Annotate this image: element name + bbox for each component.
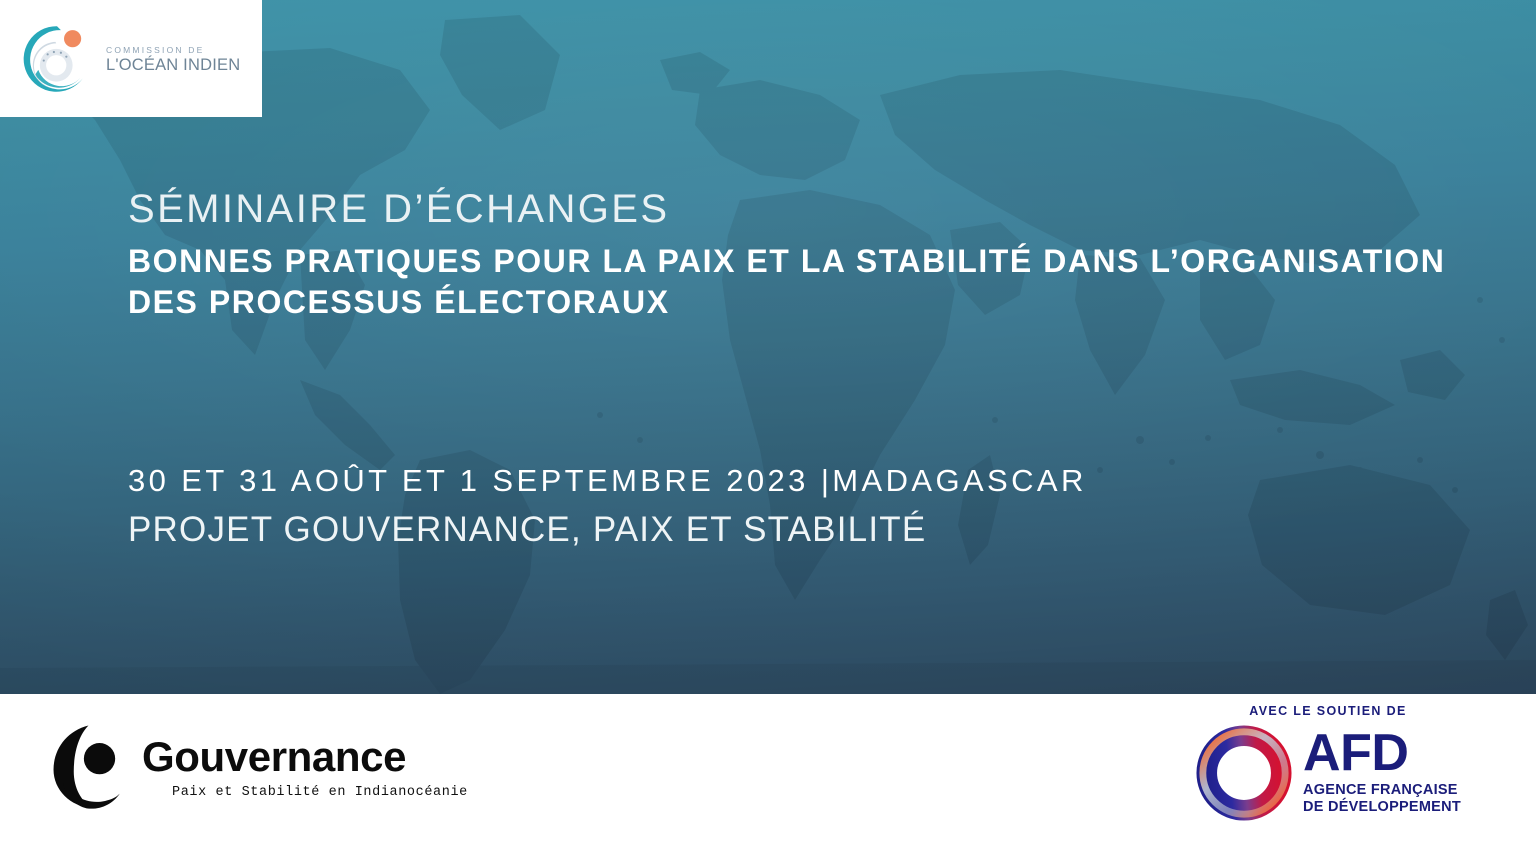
gouvernance-name: Gouvernance bbox=[142, 736, 468, 778]
afd-support-label: AVEC LE SOUTIEN DE bbox=[1178, 704, 1478, 718]
coi-logo-wordmark: COMMISSION DE L'OCÉAN INDIEN bbox=[106, 44, 240, 74]
coi-swirl-logo-icon bbox=[18, 20, 96, 98]
gouvernance-crescent-dot-icon bbox=[48, 720, 140, 812]
hero-title-block: SÉMINAIRE D’ÉCHANGES BONNES PRATIQUES PO… bbox=[128, 186, 1468, 323]
hero-project-name: PROJET GOUVERNANCE, PAIX ET STABILITÉ bbox=[128, 509, 1087, 551]
afd-ring-logo-icon bbox=[1195, 724, 1293, 822]
hero-dateline: 30 ET 31 AOÛT ET 1 SEPTEMBRE 2023 |MADAG… bbox=[128, 462, 1087, 499]
coi-logo-line1: COMMISSION DE bbox=[106, 46, 240, 55]
afd-wordmark: AFD AGENCE FRANÇAISE DE DÉVELOPPEMENT bbox=[1303, 730, 1461, 815]
presentation-slide: COMMISSION DE L'OCÉAN INDIEN SÉMINAIRE D… bbox=[0, 0, 1536, 864]
hero-meta-block: 30 ET 31 AOÛT ET 1 SEPTEMBRE 2023 |MADAG… bbox=[128, 462, 1087, 551]
footer-logo-bar: Gouvernance Paix et Stabilité en Indiano… bbox=[0, 694, 1536, 864]
afd-subtitle-line1: AGENCE FRANÇAISE bbox=[1303, 782, 1461, 799]
hero-eyebrow: SÉMINAIRE D’ÉCHANGES bbox=[128, 186, 1468, 233]
afd-title: AFD bbox=[1303, 730, 1461, 778]
hero-headline: BONNES PRATIQUES POUR LA PAIX ET LA STAB… bbox=[128, 241, 1468, 323]
gouvernance-wordmark: Gouvernance Paix et Stabilité en Indiano… bbox=[142, 732, 468, 800]
gouvernance-tagline: Paix et Stabilité en Indianocéanie bbox=[172, 785, 468, 800]
afd-subtitle-line2: DE DÉVELOPPEMENT bbox=[1303, 799, 1461, 816]
coi-logo-line2: L'OCÉAN INDIEN bbox=[106, 57, 240, 74]
afd-logo-lockup: AVEC LE SOUTIEN DE bbox=[1178, 704, 1478, 822]
coi-logo-plate: COMMISSION DE L'OCÉAN INDIEN bbox=[0, 0, 262, 117]
hero-banner: COMMISSION DE L'OCÉAN INDIEN SÉMINAIRE D… bbox=[0, 0, 1536, 694]
gouvernance-logo-lockup: Gouvernance Paix et Stabilité en Indiano… bbox=[48, 720, 468, 812]
